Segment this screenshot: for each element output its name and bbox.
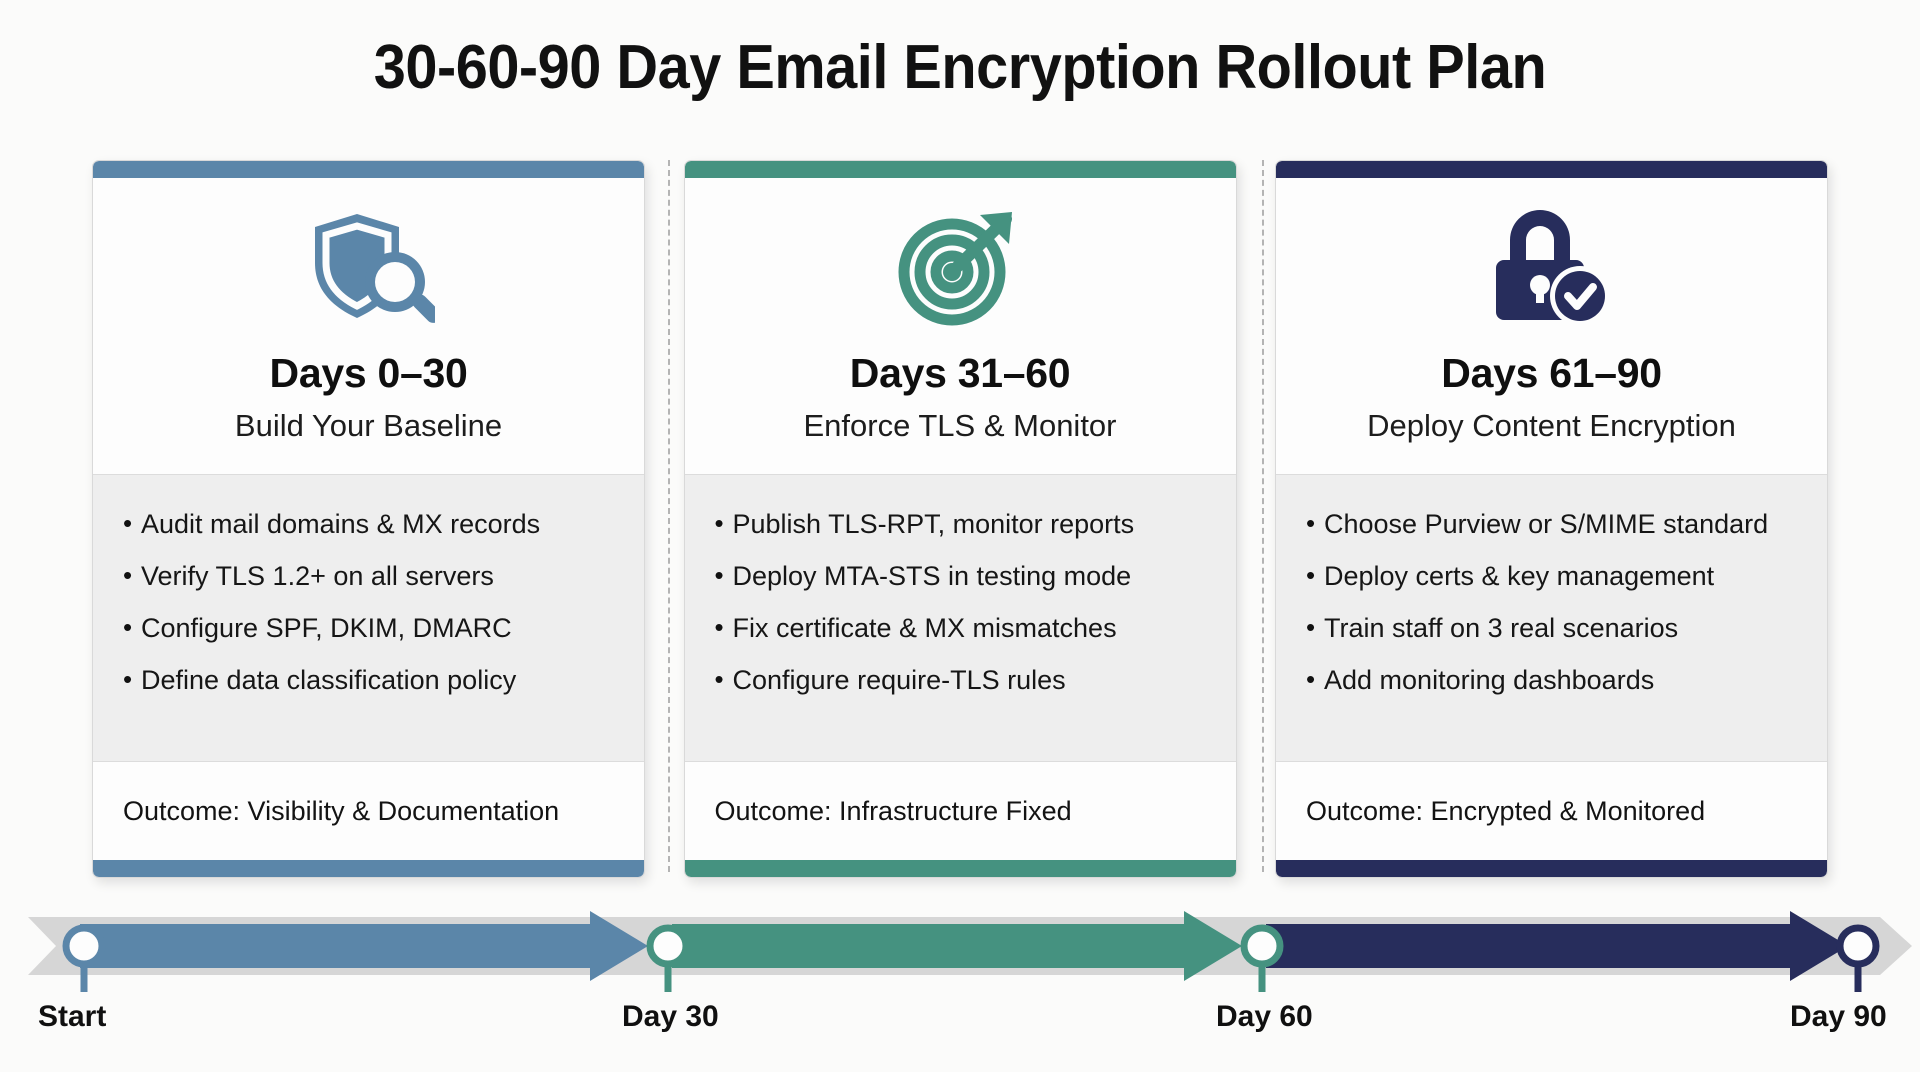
card-subtitle: Enforce TLS & Monitor xyxy=(803,408,1116,444)
list-item: • Deploy certs & key management xyxy=(1306,561,1801,591)
card-accent-bottom-bar xyxy=(93,860,644,877)
bullet-icon: • xyxy=(1306,665,1324,693)
list-item: • Publish TLS-RPT, monitor reports xyxy=(715,509,1210,539)
list-item: • Add monitoring dashboards xyxy=(1306,665,1801,695)
page-title: 30-60-90 Day Email Encryption Rollout Pl… xyxy=(67,32,1853,103)
card-subtitle: Deploy Content Encryption xyxy=(1367,408,1736,444)
bullet-text: Choose Purview or S/MIME standard xyxy=(1324,509,1768,539)
bullet-text: Deploy certs & key management xyxy=(1324,561,1714,591)
list-item: • Train staff on 3 real scenarios xyxy=(1306,613,1801,643)
bullet-text: Audit mail domains & MX records xyxy=(141,509,540,539)
card-bullet-list: • Choose Purview or S/MIME standard • De… xyxy=(1276,474,1827,762)
bullet-text: Verify TLS 1.2+ on all servers xyxy=(141,561,494,591)
card-header: Days 0–30 Build Your Baseline xyxy=(93,178,644,474)
card-header: Days 61–90 Deploy Content Encryption xyxy=(1276,178,1827,474)
bullet-text: Add monitoring dashboards xyxy=(1324,665,1654,695)
list-item: • Audit mail domains & MX records xyxy=(123,509,618,539)
shield-search-icon xyxy=(303,204,435,330)
timeline-label-day-30: Day 30 xyxy=(622,1000,719,1034)
phase-card-2[interactable]: Days 61–90 Deploy Content Encryption • C… xyxy=(1275,160,1828,878)
bullet-icon: • xyxy=(123,561,141,589)
bullet-text: Publish TLS-RPT, monitor reports xyxy=(733,509,1135,539)
bullet-icon: • xyxy=(123,665,141,693)
card-accent-top-bar xyxy=(1276,161,1827,178)
card-bullet-list: • Publish TLS-RPT, monitor reports • Dep… xyxy=(685,474,1236,762)
card-outcome: Outcome: Infrastructure Fixed xyxy=(685,762,1236,860)
card-outcome-text: Outcome: Encrypted & Monitored xyxy=(1306,796,1705,827)
card-phase-label: Days 31–60 xyxy=(850,350,1070,397)
target-arrow-icon xyxy=(896,204,1024,330)
bullet-icon: • xyxy=(1306,509,1324,537)
card-accent-top-bar xyxy=(93,161,644,178)
bullet-icon: • xyxy=(123,509,141,537)
card-header: Days 31–60 Enforce TLS & Monitor xyxy=(685,178,1236,474)
card-phase-label: Days 61–90 xyxy=(1441,350,1661,397)
list-item: • Configure SPF, DKIM, DMARC xyxy=(123,613,618,643)
card-outcome: Outcome: Encrypted & Monitored xyxy=(1276,762,1827,860)
bullet-icon: • xyxy=(1306,613,1324,641)
timeline-label-start: Start xyxy=(38,1000,106,1034)
phase-card-1[interactable]: Days 31–60 Enforce TLS & Monitor • Publi… xyxy=(684,160,1237,878)
bullet-text: Fix certificate & MX mismatches xyxy=(733,613,1117,643)
bullet-text: Define data classification policy xyxy=(141,665,516,695)
card-bullet-list: • Audit mail domains & MX records • Veri… xyxy=(93,474,644,762)
list-item: • Configure require-TLS rules xyxy=(715,665,1210,695)
timeline-label-day-90: Day 90 xyxy=(1790,1000,1887,1034)
bullet-icon: • xyxy=(715,561,733,589)
timeline-label-day-60: Day 60 xyxy=(1216,1000,1313,1034)
bullet-text: Configure require-TLS rules xyxy=(733,665,1066,695)
list-item: • Fix certificate & MX mismatches xyxy=(715,613,1210,643)
list-item: • Deploy MTA-STS in testing mode xyxy=(715,561,1210,591)
phase-card-0[interactable]: Days 0–30 Build Your Baseline • Audit ma… xyxy=(92,160,645,878)
bullet-text: Train staff on 3 real scenarios xyxy=(1324,613,1678,643)
bullet-icon: • xyxy=(715,613,733,641)
timeline-milestone-2 xyxy=(1244,928,1280,992)
card-outcome-text: Outcome: Visibility & Documentation xyxy=(123,796,559,827)
bullet-text: Configure SPF, DKIM, DMARC xyxy=(141,613,512,643)
timeline-milestone-1 xyxy=(650,928,686,992)
card-phase-label: Days 0–30 xyxy=(270,350,468,397)
card-subtitle: Build Your Baseline xyxy=(235,408,502,444)
bullet-text: Deploy MTA-STS in testing mode xyxy=(733,561,1132,591)
card-accent-top-bar xyxy=(685,161,1236,178)
phase-card-row: Days 0–30 Build Your Baseline • Audit ma… xyxy=(92,160,1828,885)
card-accent-bottom-bar xyxy=(685,860,1236,877)
list-item: • Verify TLS 1.2+ on all servers xyxy=(123,561,618,591)
timeline: Start Day 30 Day 60 Day 90 xyxy=(0,896,1920,1072)
lock-check-icon xyxy=(1488,204,1616,330)
list-item: • Choose Purview or S/MIME standard xyxy=(1306,509,1801,539)
timeline-milestone-0 xyxy=(66,928,102,992)
bullet-icon: • xyxy=(715,509,733,537)
card-outcome: Outcome: Visibility & Documentation xyxy=(93,762,644,860)
timeline-milestone-3 xyxy=(1840,928,1876,992)
card-outcome-text: Outcome: Infrastructure Fixed xyxy=(715,796,1072,827)
bullet-icon: • xyxy=(1306,561,1324,589)
card-accent-bottom-bar xyxy=(1276,860,1827,877)
bullet-icon: • xyxy=(123,613,141,641)
bullet-icon: • xyxy=(715,665,733,693)
list-item: • Define data classification policy xyxy=(123,665,618,695)
